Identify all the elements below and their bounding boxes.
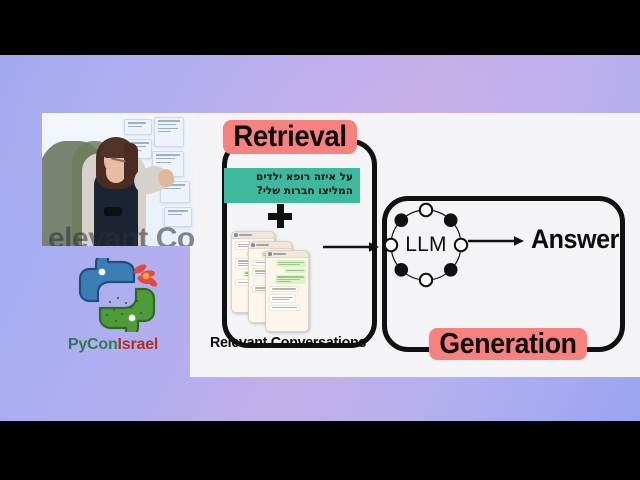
video-frame: על איזה רופא ילדים המליצו חברות שלי? [0,0,640,480]
chat-bubble [276,260,306,267]
speaker-camera-feed: elevant Co [42,113,194,246]
board-sticky-note [154,117,184,147]
contact-avatar-icon [268,252,272,256]
chat-bubble [284,269,306,273]
board-sticky-note [124,119,152,135]
chat-bubble [269,294,296,303]
arrow-llm-to-answer-icon [468,235,524,247]
logo-word-israel: Israel [118,336,159,353]
contact-avatar-icon [251,243,255,247]
user-query-chip: על איזה רופא ילדים המליצו חברות שלי? [224,168,360,203]
conversation-screenshot-3 [265,250,309,332]
contact-avatar-icon [234,233,238,237]
contact-name-placeholder [256,244,269,246]
logo-word-pycon: PyCon [68,336,118,353]
plus-operator-icon [268,204,292,228]
generation-badge: Generation [429,328,587,360]
llm-ring-icon [380,196,472,294]
arrow-retrieval-to-llm-icon [323,241,379,253]
phone-header-bar [232,232,274,239]
letterbox-bottom [0,421,640,480]
contact-name-placeholder [239,234,252,236]
answer-label: Answer [531,226,619,253]
phone-screenshot-stack [231,231,319,331]
chat-bubble [269,305,300,311]
python-cactus-logo-icon [74,258,160,332]
contact-name-placeholder [273,253,286,255]
chat-body [266,258,308,313]
chat-bubble [269,286,299,292]
cactus-flower-icon [132,263,158,289]
phone-header-bar [266,251,308,258]
phone-header-bar [249,242,291,249]
pycon-israel-logo: PyConIsrael [48,258,178,366]
slide-text-behind-speaker: elevant Co [48,222,194,246]
chat-bubble [275,275,306,284]
retrieval-badge: Retrieval [223,120,357,154]
relevant-conversations-label: Relevant Conversations [210,334,362,351]
llm-node-graph: LLM [380,196,472,294]
pycon-israel-wordmark: PyConIsrael [48,336,178,354]
letterbox-top [0,0,640,55]
presenter-clicker-icon [104,207,122,216]
